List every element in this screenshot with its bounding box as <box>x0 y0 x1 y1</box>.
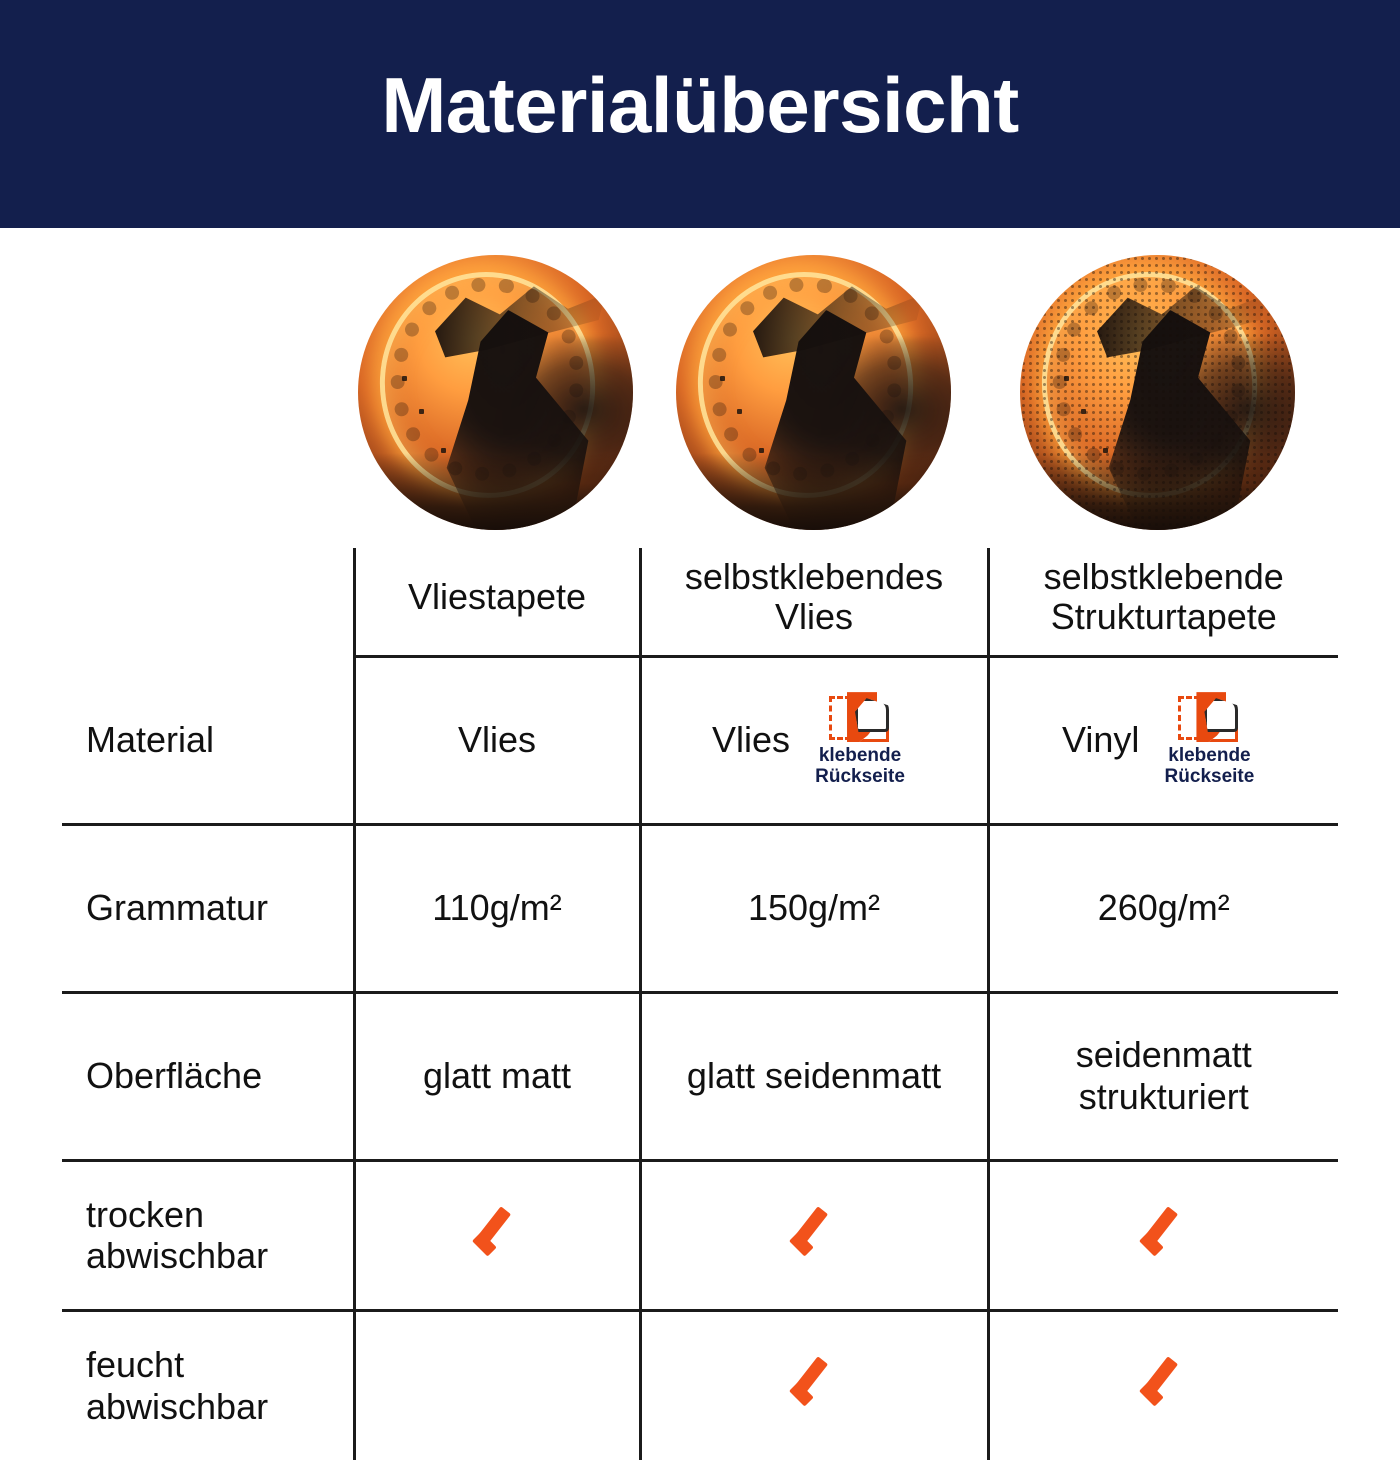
row-label-grammatur: Grammatur <box>62 824 354 992</box>
badge-line-2: Rückseite <box>1165 766 1255 787</box>
cell-value: Vlies <box>458 719 536 761</box>
check-icon <box>1137 1210 1191 1252</box>
swatch-vliestapete <box>358 255 633 530</box>
badge-text: klebende Rückseite <box>1165 746 1255 788</box>
cell-feucht-strukturtapete <box>988 1310 1338 1460</box>
swatch-selbstklebendes-vlies <box>676 255 951 530</box>
material-overview-page: Materialübersicht <box>0 0 1400 1400</box>
cell-material-selbstklebendes-vlies: Vlies klebende Rückseite <box>640 656 988 824</box>
table-header-row: Vliestapete selbstklebendes Vlies selbst… <box>62 548 1338 656</box>
badge-text: klebende Rückseite <box>815 746 905 788</box>
row-label-feucht-abwischbar: feucht abwischbar <box>62 1310 354 1460</box>
artwork-image <box>1020 255 1295 530</box>
row-label-trocken-abwischbar: trocken abwischbar <box>62 1160 354 1310</box>
table-row-material: Material Vlies Vlies <box>62 656 1338 824</box>
cell-feucht-selbstklebendes-vlies <box>640 1310 988 1460</box>
badge-line-1: klebende <box>819 745 901 766</box>
column-header-vliestapete: Vliestapete <box>354 548 640 656</box>
swatch-row <box>0 228 1400 553</box>
badge-line-1: klebende <box>1168 745 1250 766</box>
artwork-image <box>676 255 951 530</box>
page-header: Materialübersicht <box>0 0 1400 228</box>
cell-material-vliestapete: Vlies <box>354 656 640 824</box>
cell-value: Vinyl <box>1062 719 1139 761</box>
check-icon <box>470 1210 524 1252</box>
page-title: Materialübersicht <box>0 0 1400 228</box>
badge-line-2: Rückseite <box>815 766 905 787</box>
surface-texture <box>1020 255 1295 530</box>
check-icon <box>787 1360 841 1402</box>
cell-trocken-strukturtapete <box>988 1160 1338 1310</box>
swatch-strukturtapete <box>1020 255 1295 530</box>
row-label-oberflaeche: Oberfläche <box>62 992 354 1160</box>
table-row-grammatur: Grammatur 110g/m² 150g/m² 260g/m² <box>62 824 1338 992</box>
adhesive-backing-icon <box>829 692 891 744</box>
cell-grammatur-strukturtapete: 260g/m² <box>988 824 1338 992</box>
cell-feucht-vliestapete <box>354 1310 640 1460</box>
header-corner <box>62 548 354 656</box>
adhesive-backing-icon <box>1178 692 1240 744</box>
cell-grammatur-selbstklebendes-vlies: 150g/m² <box>640 824 988 992</box>
check-icon <box>787 1210 841 1252</box>
cell-oberflaeche-vliestapete: glatt matt <box>354 992 640 1160</box>
row-label-material: Material <box>62 656 354 824</box>
table-row-trocken-abwischbar: trocken abwischbar <box>62 1160 1338 1310</box>
cell-grammatur-vliestapete: 110g/m² <box>354 824 640 992</box>
cell-oberflaeche-strukturtapete: seidenmatt strukturiert <box>988 992 1338 1160</box>
adhesive-backing-badge: klebende Rückseite <box>1153 692 1265 788</box>
column-header-strukturtapete: selbstklebende Strukturtapete <box>988 548 1338 656</box>
table-row-oberflaeche: Oberfläche glatt matt glatt seidenmatt s… <box>62 992 1338 1160</box>
artwork-image <box>358 255 633 530</box>
cell-material-strukturtapete: Vinyl klebende Rückseite <box>988 656 1338 824</box>
check-icon <box>1137 1360 1191 1402</box>
cell-oberflaeche-selbstklebendes-vlies: glatt seidenmatt <box>640 992 988 1160</box>
adhesive-backing-badge: klebende Rückseite <box>804 692 916 788</box>
column-header-selbstklebendes-vlies: selbstklebendes Vlies <box>640 548 988 656</box>
cell-value: Vlies <box>712 719 790 761</box>
cell-trocken-selbstklebendes-vlies <box>640 1160 988 1310</box>
table-row-feucht-abwischbar: feucht abwischbar <box>62 1310 1338 1460</box>
material-comparison-table: Vliestapete selbstklebendes Vlies selbst… <box>62 548 1338 1460</box>
cell-trocken-vliestapete <box>354 1160 640 1310</box>
